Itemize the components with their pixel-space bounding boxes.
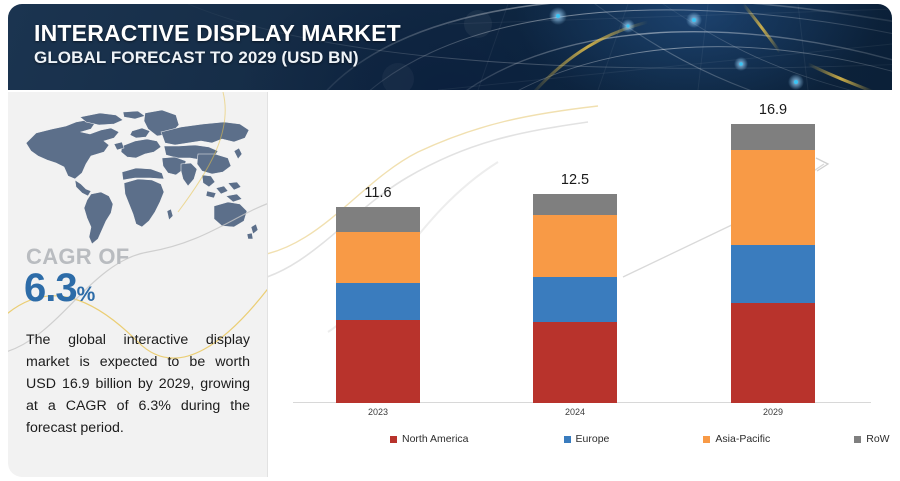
legend-swatch-icon [854, 436, 861, 443]
bar-year-label: 2029 [731, 407, 815, 417]
cagr-percent-sign: % [77, 283, 96, 306]
page-title: INTERACTIVE DISPLAY MARKET [34, 20, 401, 47]
legend-item-row[interactable]: RoW [854, 433, 889, 445]
bar-segment-asia-pacific[interactable] [731, 150, 815, 245]
bar-segment-asia-pacific[interactable] [336, 232, 420, 283]
bar-segment-row[interactable] [533, 194, 617, 215]
bar-group-2023[interactable]: 11.62023 [336, 207, 420, 403]
bar-segment-row[interactable] [336, 207, 420, 232]
chart-legend: North AmericaEuropeAsia-PacificRoW [267, 428, 892, 450]
cagr-value: 6.3% [24, 266, 95, 311]
legend-label: Europe [576, 433, 610, 445]
bar-group-2029[interactable]: 16.92029 [731, 124, 815, 403]
legend-label: North America [402, 433, 469, 445]
chart-panel: 11.6202312.5202416.92029 6.3% [267, 92, 892, 477]
stacked-bar-chart: 11.6202312.5202416.92029 6.3% [268, 92, 892, 477]
legend-item-asia-pacific[interactable]: Asia-Pacific [703, 433, 770, 445]
legend-swatch-icon [564, 436, 571, 443]
summary-panel: CAGR OF 6.3% The global interactive disp… [8, 92, 267, 477]
legend-item-north-america[interactable]: North America [390, 433, 469, 445]
legend-label: RoW [866, 433, 889, 445]
bar-total-label: 16.9 [731, 102, 815, 118]
market-description: The global interactive display market is… [26, 329, 250, 439]
bar-segment-asia-pacific[interactable] [533, 215, 617, 277]
bar-segment-north-america[interactable] [533, 322, 617, 403]
bar-segment-europe[interactable] [731, 245, 815, 303]
bar-group-2024[interactable]: 12.52024 [533, 194, 617, 403]
infographic-canvas: INTERACTIVE DISPLAY MARKET GLOBAL FORECA… [0, 0, 900, 481]
bar-segment-north-america[interactable] [336, 320, 420, 403]
header-banner: INTERACTIVE DISPLAY MARKET GLOBAL FORECA… [8, 4, 892, 90]
legend-item-europe[interactable]: Europe [564, 433, 610, 445]
bar-total-label: 11.6 [336, 185, 420, 201]
bar-year-label: 2023 [336, 407, 420, 417]
bar-year-label: 2024 [533, 407, 617, 417]
bar-segment-europe[interactable] [533, 277, 617, 322]
cagr-number: 6.3 [24, 266, 77, 310]
bar-segment-row[interactable] [731, 124, 815, 150]
legend-swatch-icon [703, 436, 710, 443]
bar-segment-europe[interactable] [336, 283, 420, 320]
legend-label: Asia-Pacific [715, 433, 770, 445]
header-decoration-arcs [8, 4, 892, 90]
legend-swatch-icon [390, 436, 397, 443]
bar-segment-north-america[interactable] [731, 303, 815, 403]
bar-total-label: 12.5 [533, 172, 617, 188]
page-subtitle: GLOBAL FORECAST TO 2029 (USD BN) [34, 48, 359, 68]
